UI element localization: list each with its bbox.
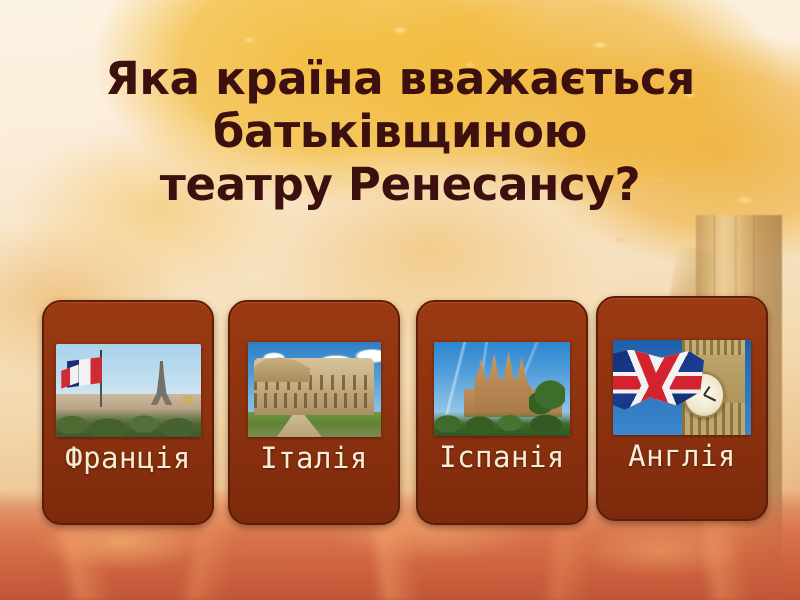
quiz-slide: Яка країна вважається батьківщиною театр…: [0, 0, 800, 600]
answer-card-spain[interactable]: Іспанія: [416, 300, 588, 525]
answer-card-england[interactable]: Англія: [596, 296, 768, 521]
answer-card-france[interactable]: Франція: [42, 300, 214, 525]
answer-card-italy[interactable]: Італія: [228, 300, 400, 525]
england-thumbnail: [613, 340, 751, 435]
answer-label-england: Англія: [628, 441, 736, 471]
answer-label-spain: Іспанія: [439, 442, 565, 472]
france-thumbnail: [56, 344, 201, 437]
spain-thumbnail: [434, 342, 570, 436]
answer-label-france: Франція: [65, 443, 191, 473]
answer-options: Франція Італія: [0, 0, 800, 600]
answer-label-italy: Італія: [260, 443, 368, 473]
italy-thumbnail: [248, 342, 381, 437]
